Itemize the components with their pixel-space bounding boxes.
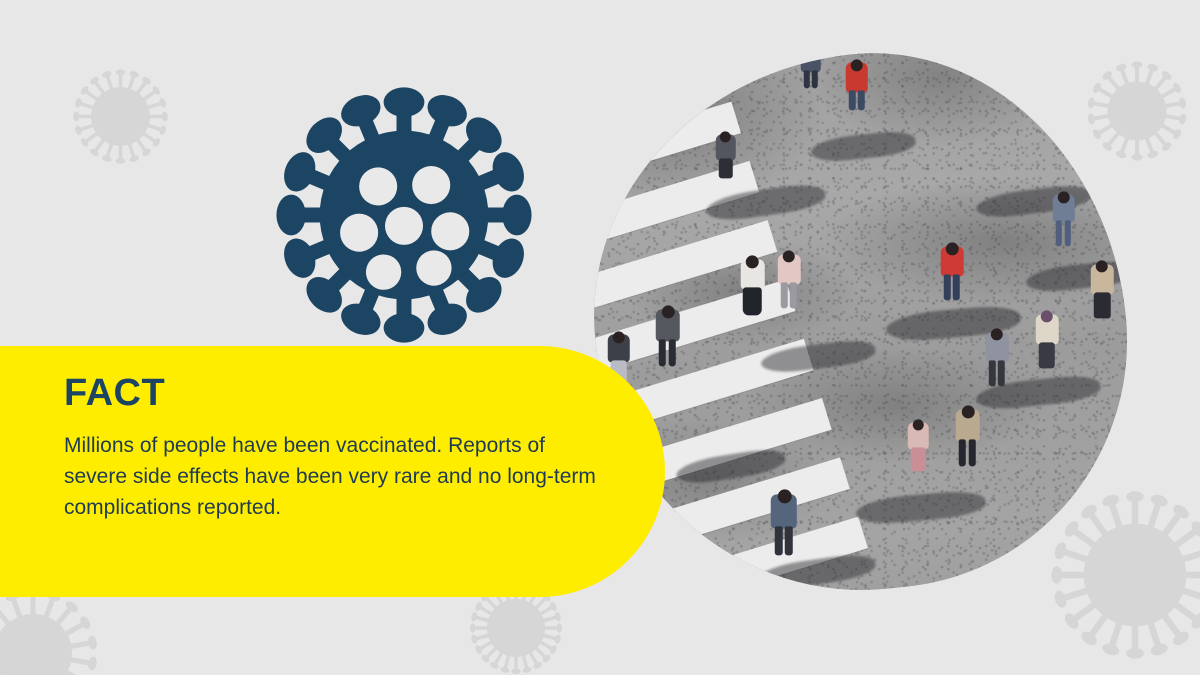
cast-shadow: [810, 129, 917, 164]
fact-infographic-poster: FACT Millions of people have been vaccin…: [0, 0, 1200, 675]
coronavirus-icon: [268, 70, 540, 360]
photo-pavement-texture: [568, 29, 1151, 616]
crowd-street-photo: [568, 29, 1151, 616]
fact-panel: FACT Millions of people have been vaccin…: [0, 346, 665, 597]
pedestrian: [956, 409, 980, 467]
pedestrian: [778, 254, 801, 308]
pedestrian: [941, 246, 964, 302]
pedestrian: [771, 494, 797, 556]
pedestrian: [1091, 264, 1114, 319]
pedestrian: [908, 422, 929, 472]
watermark-virus-top-left: [68, 64, 173, 169]
fact-body-text: Millions of people have been vaccinated.…: [64, 430, 604, 523]
cast-shadow: [1025, 259, 1137, 294]
pedestrian: [656, 309, 680, 367]
pedestrian: [986, 332, 1009, 388]
pedestrian: [801, 44, 821, 88]
pedestrian: [741, 259, 765, 315]
fact-title: FACT: [64, 372, 165, 415]
pedestrian: [846, 62, 868, 108]
pedestrian: [1053, 194, 1075, 248]
pedestrian: [1036, 314, 1059, 369]
pedestrian: [716, 134, 736, 178]
